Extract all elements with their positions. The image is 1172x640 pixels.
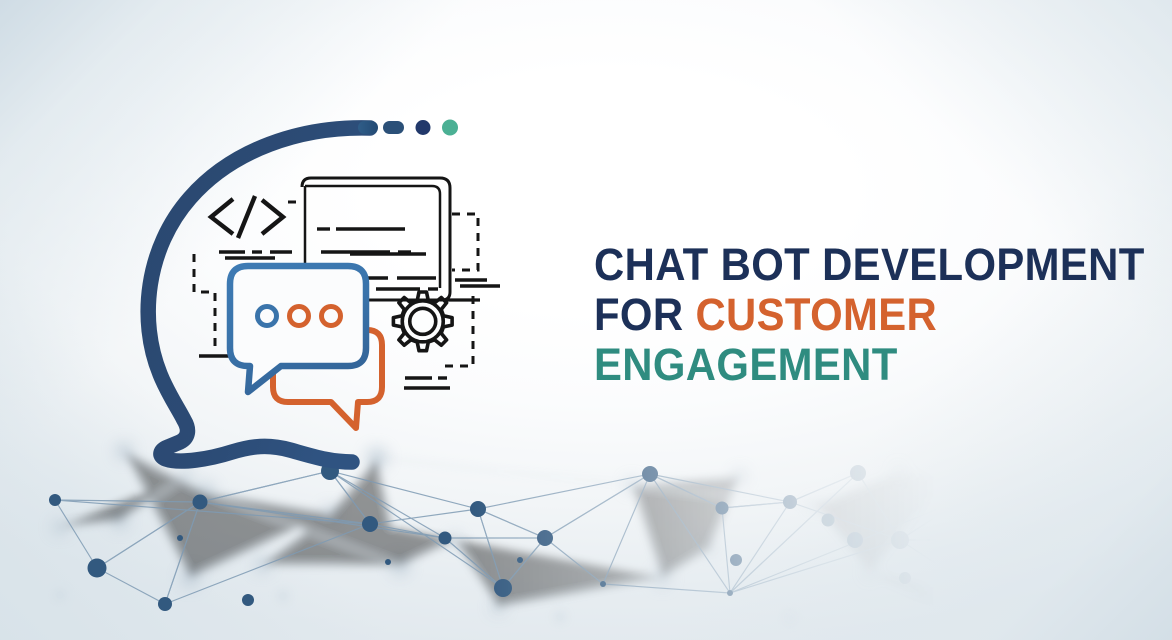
headline-segment-1-1: CHAT BOT DEVELOPMENT (594, 239, 1145, 290)
headline-segment-2-2: CUSTOMER (695, 289, 937, 340)
page-title: CHAT BOT DEVELOPMENT FOR CUSTOMER ENGAGE… (594, 240, 1114, 390)
headline-block: CHAT BOT DEVELOPMENT FOR CUSTOMER ENGAGE… (0, 0, 1172, 640)
headline-segment-2-1: FOR (594, 289, 695, 340)
banner-root: CHAT BOT DEVELOPMENT FOR CUSTOMER ENGAGE… (0, 0, 1172, 640)
headline-line-1: CHAT BOT DEVELOPMENT (594, 240, 1078, 290)
headline-line-2: FOR CUSTOMER (594, 290, 1078, 340)
headline-segment-3-1: ENGAGEMENT (594, 339, 898, 390)
headline-line-3: ENGAGEMENT (594, 340, 1078, 390)
